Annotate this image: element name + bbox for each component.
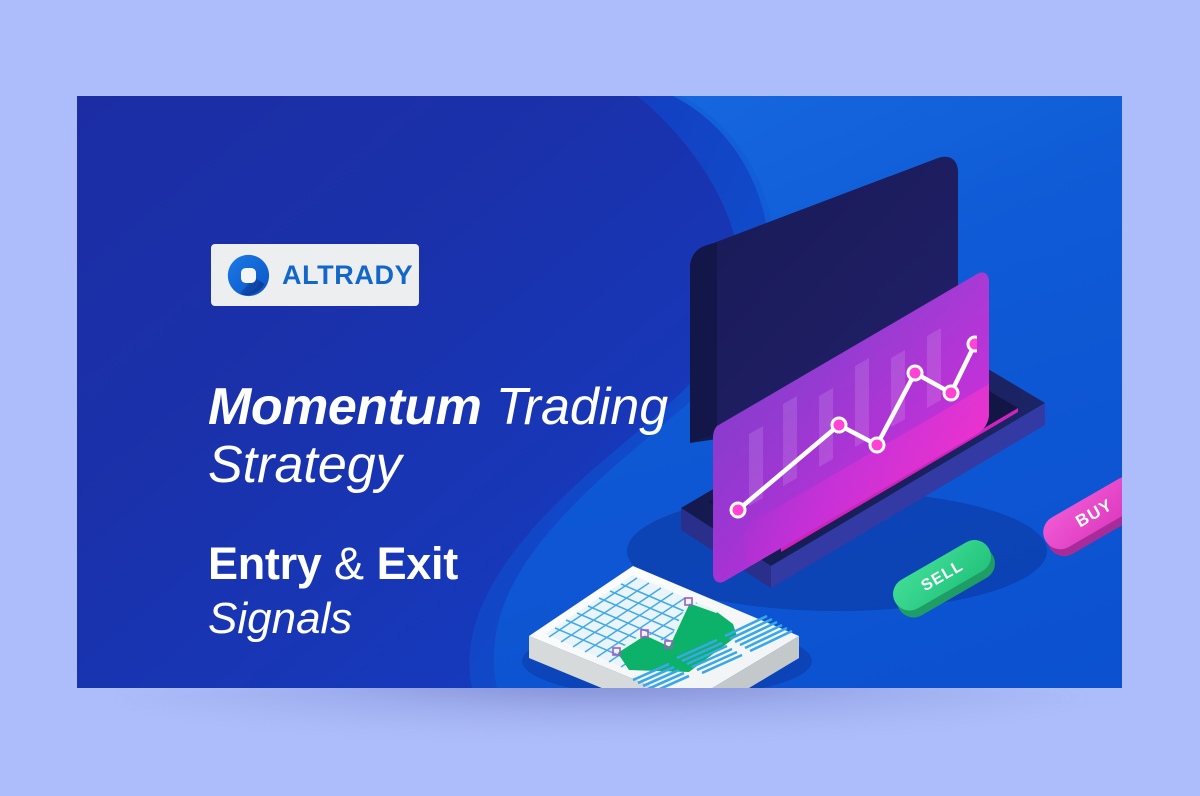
- title-bold-momentum: Momentum: [208, 378, 481, 436]
- title-italic-strategy: Strategy: [208, 436, 402, 494]
- altrady-q-logo-icon: [226, 253, 271, 298]
- title-italic-trading: Trading: [481, 378, 668, 436]
- banner-card: BUY SELL: [77, 96, 1122, 688]
- page-title: Momentum Trading Strategy: [208, 378, 668, 494]
- subtitle-ampersand: &: [322, 538, 377, 589]
- altrady-wordmark: ALTRADY: [282, 260, 413, 291]
- subtitle-bold-entry: Entry: [208, 538, 322, 589]
- subtitle-italic-signals: Signals: [208, 594, 352, 643]
- banner-stage: BUY SELL: [0, 0, 1200, 796]
- subtitle-bold-exit: Exit: [377, 538, 458, 589]
- subtitle: Entry & Exit Signals: [208, 537, 458, 646]
- altrady-logo-badge[interactable]: ALTRADY: [211, 244, 419, 306]
